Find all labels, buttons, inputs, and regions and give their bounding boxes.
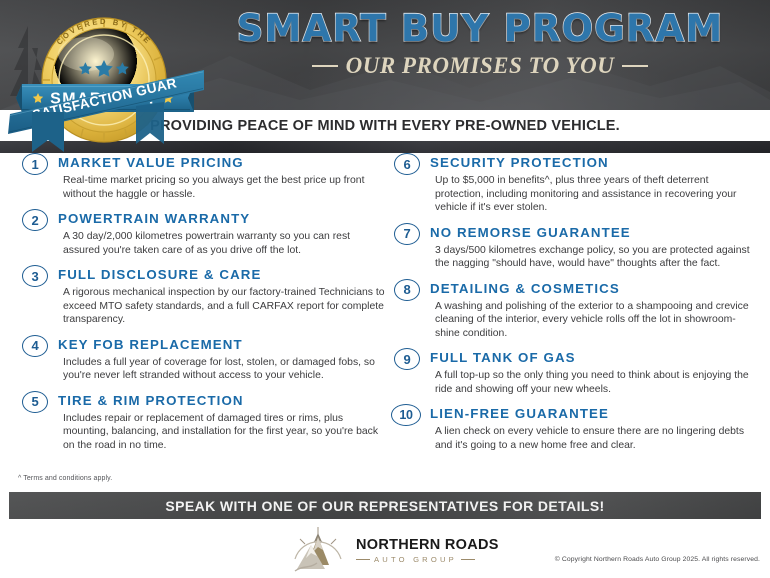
page-subtitle-row: OUR PROMISES TO YOU (190, 53, 770, 79)
promise-number-7: 7 (394, 223, 420, 245)
logo-rule-left (356, 559, 370, 560)
promise-title-7: NO REMORSE GUARANTEE (430, 223, 758, 242)
promise-item-9: 9 FULL TANK OF GAS A full top-up so the … (390, 348, 758, 396)
subtitle-rule-right (622, 65, 648, 67)
promise-item-6: 6 SECURITY PROTECTION Up to $5,000 in be… (390, 153, 758, 215)
promise-title-1: MARKET VALUE PRICING (58, 153, 386, 172)
promise-item-3: 3 FULL DISCLOSURE & CARE A rigorous mech… (18, 265, 386, 327)
promise-number-2: 2 (22, 209, 48, 231)
promises-column-left: 1 MARKET VALUE PRICING Real-time market … (18, 153, 386, 460)
promise-title-8: DETAILING & COSMETICS (430, 279, 758, 298)
promise-title-4: KEY FOB REPLACEMENT (58, 335, 386, 354)
copyright-text: © Copyright Northern Roads Auto Group 20… (555, 556, 760, 563)
promise-title-6: SECURITY PROTECTION (430, 153, 758, 172)
promise-number-5: 5 (22, 391, 48, 413)
promise-item-1: 1 MARKET VALUE PRICING Real-time market … (18, 153, 386, 201)
promise-title-5: TIRE & RIM PROTECTION (58, 391, 386, 410)
promise-body-6: Up to $5,000 in benefits^, plus three ye… (430, 174, 758, 215)
logo-name: NORTHERN ROADS (356, 537, 499, 553)
promise-body-5: Includes repair or replacement of damage… (58, 412, 386, 453)
cta-bar[interactable]: SPEAK WITH ONE OF OUR REPRESENTATIVES FO… (9, 492, 761, 519)
smart-buy-satisfaction-guarantee-seal: COVERED BY THE SMART BUY (8, 2, 204, 152)
terms-disclaimer: ^ Terms and conditions apply. (18, 475, 112, 482)
promise-body-7: 3 days/500 kilometres exchange policy, s… (430, 244, 758, 271)
promise-body-9: A full top-up so the only thing you need… (430, 369, 758, 396)
promise-number-3: 3 (22, 265, 48, 287)
promise-title-2: POWERTRAIN WARRANTY (58, 209, 386, 228)
northern-roads-logo[interactable]: NORTHERN ROADS AUTO GROUP (287, 525, 499, 573)
header-title-block: SMART BUY PROGRAM OUR PROMISES TO YOU (190, 8, 770, 79)
promises-column-right: 6 SECURITY PROTECTION Up to $5,000 in be… (390, 153, 758, 460)
cta-text: SPEAK WITH ONE OF OUR REPRESENTATIVES FO… (165, 498, 604, 514)
logo-sub-row: AUTO GROUP (356, 555, 499, 564)
promise-item-4: 4 KEY FOB REPLACEMENT Includes a full ye… (18, 335, 386, 383)
page-footer: NORTHERN ROADS AUTO GROUP © Copyright No… (0, 519, 770, 578)
promise-body-1: Real-time market pricing so you always g… (58, 174, 386, 201)
smart-buy-program-page: SMART BUY PROGRAM OUR PROMISES TO YOU PR… (0, 0, 770, 578)
logo-rule-right (461, 559, 475, 560)
subtitle-rule-left (312, 65, 338, 67)
promise-body-3: A rigorous mechanical inspection by our … (58, 286, 386, 327)
promise-item-8: 8 DETAILING & COSMETICS A washing and po… (390, 279, 758, 341)
promise-number-9: 9 (394, 348, 420, 370)
promises-content: 1 MARKET VALUE PRICING Real-time market … (0, 153, 770, 488)
promise-number-8: 8 (394, 279, 420, 301)
promise-item-5: 5 TIRE & RIM PROTECTION Includes repair … (18, 391, 386, 453)
page-subtitle: OUR PROMISES TO YOU (346, 53, 615, 79)
promise-title-3: FULL DISCLOSURE & CARE (58, 265, 386, 284)
promise-title-10: LIEN-FREE GUARANTEE (430, 404, 758, 423)
promise-number-6: 6 (394, 153, 420, 175)
logo-wordmark: NORTHERN ROADS AUTO GROUP (356, 535, 499, 564)
promise-body-8: A washing and polishing of the exterior … (430, 300, 758, 341)
logo-subtitle: AUTO GROUP (374, 555, 457, 564)
promise-number-10: 10 (391, 404, 421, 426)
promise-number-1: 1 (22, 153, 48, 175)
mountain-compass-logo-icon (287, 525, 349, 573)
promise-item-10: 10 LIEN-FREE GUARANTEE A lien check on e… (390, 404, 758, 452)
promise-title-9: FULL TANK OF GAS (430, 348, 758, 367)
page-title: SMART BUY PROGRAM (190, 8, 770, 50)
tagline-text: PROVIDING PEACE OF MIND WITH EVERY PRE-O… (150, 118, 620, 134)
promise-body-10: A lien check on every vehicle to ensure … (430, 425, 758, 452)
promise-number-4: 4 (22, 335, 48, 357)
promise-body-4: Includes a full year of coverage for los… (58, 356, 386, 383)
promise-item-7: 7 NO REMORSE GUARANTEE 3 days/500 kilome… (390, 223, 758, 271)
promise-body-2: A 30 day/2,000 kilometres powertrain war… (58, 230, 386, 257)
promise-item-2: 2 POWERTRAIN WARRANTY A 30 day/2,000 kil… (18, 209, 386, 257)
